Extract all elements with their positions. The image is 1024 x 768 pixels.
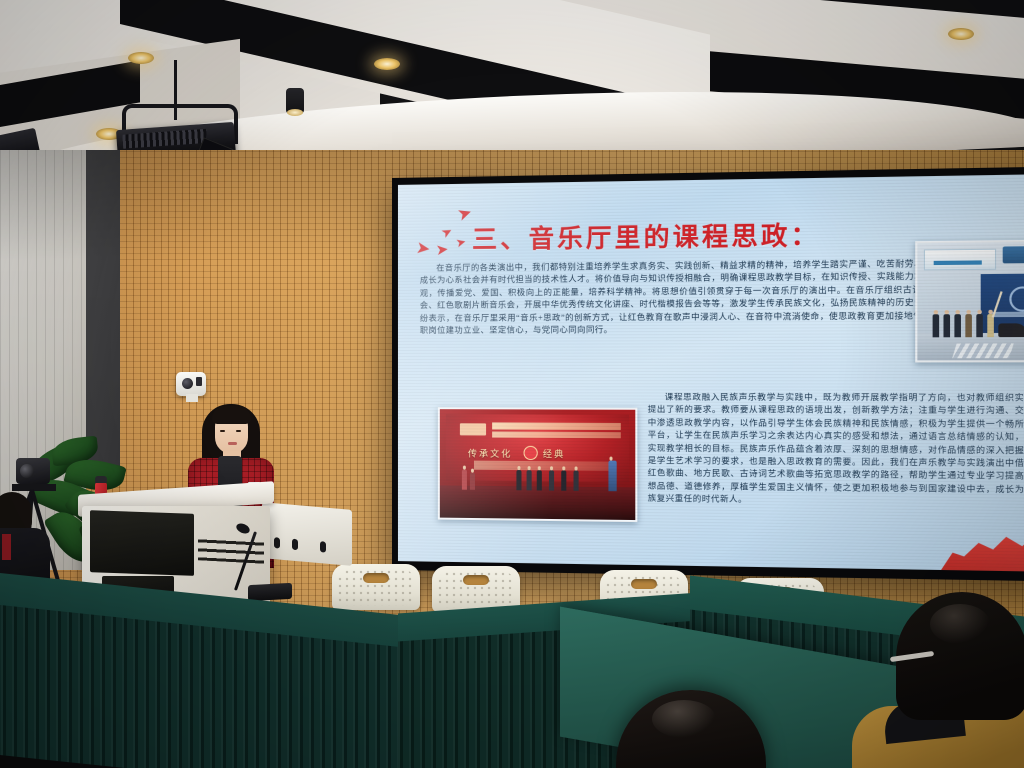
slide-paragraph-right: 课程思政融入民族声乐教学与实践中，既为教师开展教学指明了方向，也对教师组织实践活… bbox=[648, 391, 1024, 510]
chair-handle-slot bbox=[363, 573, 389, 583]
musician bbox=[965, 314, 972, 337]
slide-canvas: ➤ ➤ ➤ ➤ ➤ 三、音乐厅里的课程思政： 在音乐厅的各类演出中，我们都特别注… bbox=[398, 174, 1024, 572]
downlight-icon bbox=[128, 52, 154, 64]
downlight-icon bbox=[948, 28, 974, 40]
slide-title: 三、音乐厅里的课程思政： bbox=[472, 215, 820, 256]
slide-photo-concert-hall bbox=[915, 239, 1024, 362]
stage-seal-icon bbox=[524, 446, 538, 460]
performer bbox=[561, 470, 566, 490]
slide-decorative-red-graphic bbox=[915, 524, 1024, 572]
audience-hair-highlight bbox=[652, 700, 716, 738]
person-left-tie bbox=[2, 534, 11, 560]
cylinder-downlight-icon bbox=[286, 88, 304, 114]
stage-banner-text: 传承文化 bbox=[468, 446, 512, 459]
hall-sign bbox=[924, 249, 996, 271]
performer bbox=[549, 470, 554, 490]
chair-handle-slot bbox=[631, 579, 657, 589]
presenter-mouth bbox=[228, 442, 237, 445]
podium-button[interactable] bbox=[274, 537, 280, 549]
podium-button[interactable] bbox=[292, 539, 298, 551]
presenter-fringe bbox=[212, 406, 251, 424]
musician bbox=[933, 314, 940, 337]
musician bbox=[943, 314, 950, 337]
audience-hair-highlight bbox=[930, 604, 990, 644]
ptz-camera-lens-icon bbox=[182, 378, 193, 389]
fixture-grille bbox=[122, 129, 207, 149]
podium-vent-lines bbox=[198, 538, 264, 563]
stage-banner-text-2: 经典 bbox=[543, 447, 565, 460]
screenshot-root: ➤ ➤ ➤ ➤ ➤ 三、音乐厅里的课程思政： 在音乐厅的各类演出中，我们都特别注… bbox=[0, 0, 1024, 768]
musician bbox=[976, 314, 983, 337]
led-display-screen[interactable]: ➤ ➤ ➤ ➤ ➤ 三、音乐厅里的课程思政： 在音乐厅的各类演出中，我们都特别注… bbox=[392, 166, 1024, 581]
stage-header-line-2 bbox=[492, 432, 621, 439]
podium-black-face bbox=[90, 510, 194, 576]
presenter-eye bbox=[236, 430, 241, 432]
stage-org-badge bbox=[460, 423, 486, 435]
slide-photo-stage-performance: 传承文化 经典 bbox=[438, 407, 638, 522]
podium-control-shelf[interactable] bbox=[262, 502, 352, 566]
stage-header-line-1 bbox=[492, 422, 621, 430]
presenter-eye bbox=[220, 430, 225, 432]
stage-floor bbox=[440, 485, 635, 520]
stage-subtitle-row bbox=[474, 461, 608, 471]
downlight-icon bbox=[374, 58, 400, 70]
hall-logo-icon bbox=[1003, 246, 1024, 263]
hall-emblem-icon bbox=[1009, 286, 1024, 311]
performer bbox=[516, 470, 521, 490]
performer bbox=[527, 470, 532, 490]
performer bbox=[574, 471, 579, 491]
thermos-cap bbox=[95, 476, 107, 483]
ptz-camera-ir-panel bbox=[196, 377, 202, 386]
performer bbox=[470, 473, 475, 490]
grand-piano-icon bbox=[998, 323, 1024, 337]
performer bbox=[462, 470, 467, 490]
camera-lens-icon bbox=[20, 464, 34, 478]
hall-sign-bar bbox=[934, 260, 982, 265]
performer bbox=[537, 470, 542, 490]
hall-floor-stripes bbox=[952, 343, 1014, 358]
performer-blue bbox=[608, 461, 616, 492]
chair-handle-slot bbox=[463, 575, 489, 585]
podium-button[interactable] bbox=[320, 541, 326, 553]
musician bbox=[954, 314, 961, 337]
